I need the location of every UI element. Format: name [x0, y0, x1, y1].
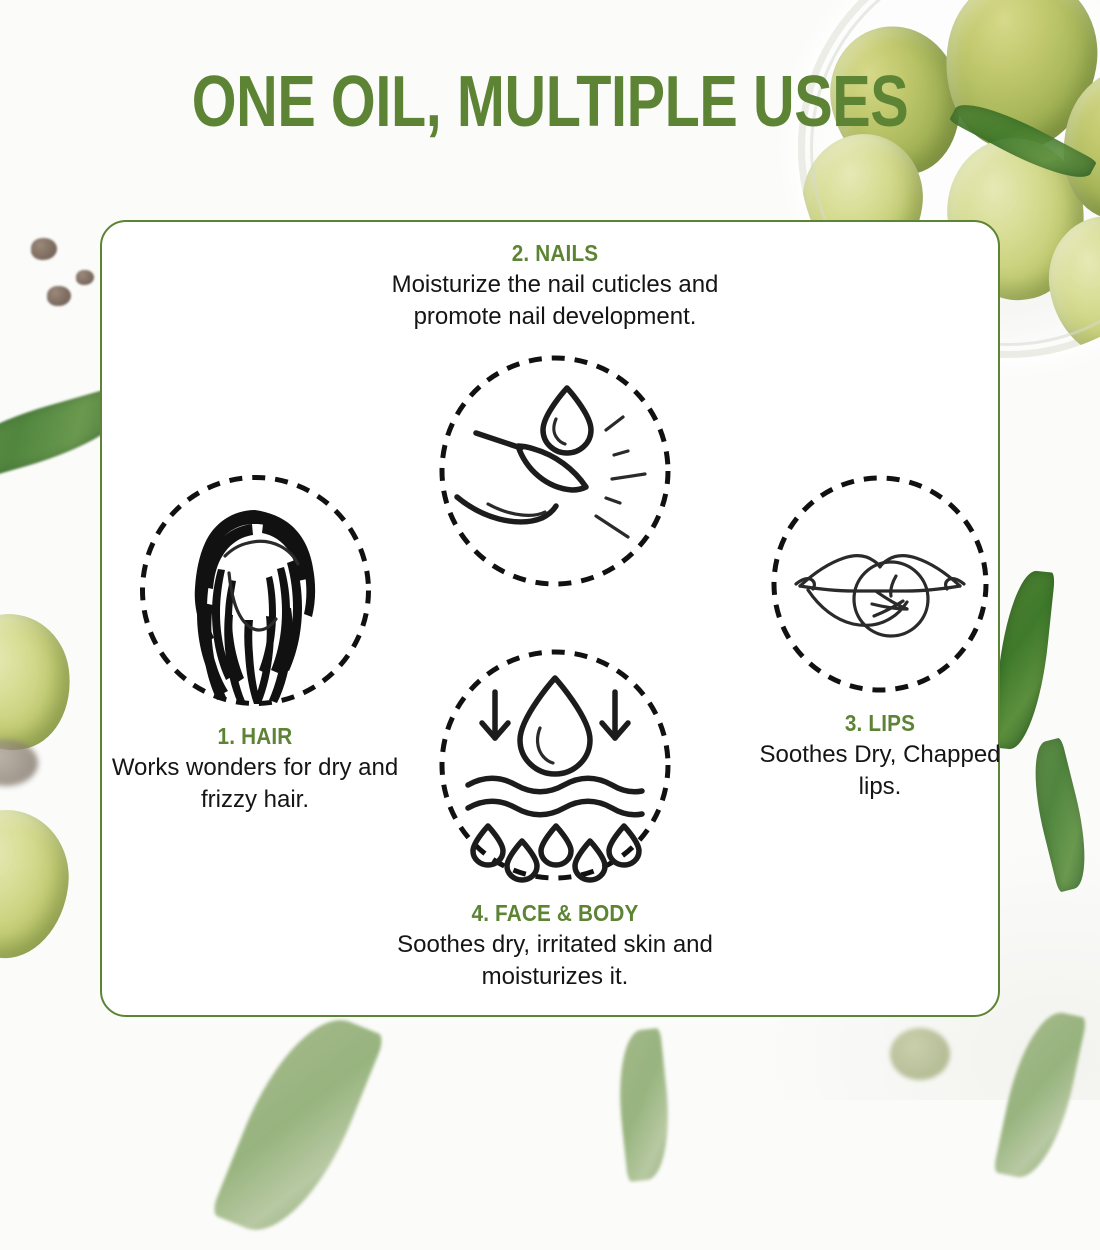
page-title: ONE OIL, MULTIPLE USES	[110, 66, 990, 138]
use-block-face-and-body: 4. FACE & BODY Soothes dry, irritated sk…	[350, 640, 760, 992]
use-block-nails: 2. NAILS Moisturize the nail cuticles an…	[350, 240, 760, 596]
nails-heading: 2. NAILS	[371, 240, 740, 266]
olive-leaf-image	[612, 1028, 675, 1182]
olive-image	[0, 804, 75, 964]
skin-hydration-droplet-icon	[430, 640, 680, 890]
olive-image	[0, 606, 79, 757]
face-body-heading: 4. FACE & BODY	[371, 900, 740, 926]
olive-leaf-image	[1022, 737, 1097, 892]
lips-description: Soothes Dry, Chapped lips.	[735, 739, 1025, 801]
nails-description: Moisturize the nail cuticles and promote…	[350, 269, 760, 331]
nails-icon-circle	[350, 346, 760, 596]
lips-caption: 3. LIPS Soothes Dry, Chapped lips.	[735, 710, 1025, 802]
lips-icon-circle	[735, 468, 1025, 700]
lips-magnifier-icon	[764, 468, 996, 700]
olive-leaf-image	[210, 1000, 385, 1249]
nails-caption: 2. NAILS Moisturize the nail cuticles an…	[350, 240, 760, 332]
olive-image	[890, 1028, 950, 1080]
face-body-icon-circle	[350, 640, 760, 890]
fingernail-oil-drop-icon	[430, 346, 680, 596]
lips-heading: 3. LIPS	[750, 710, 1011, 736]
peppercorn-image	[31, 238, 57, 260]
peppercorn-image	[47, 286, 71, 306]
hair-heading: 1. HAIR	[125, 723, 386, 749]
olive-pit-image	[0, 740, 38, 786]
face-body-description: Soothes dry, irritated skin and moisturi…	[350, 929, 760, 991]
peppercorn-image	[76, 270, 94, 285]
woman-long-hair-icon	[133, 468, 378, 713]
olive-leaf-image	[993, 1006, 1087, 1185]
face-body-caption: 4. FACE & BODY Soothes dry, irritated sk…	[350, 900, 760, 992]
use-block-lips: 3. LIPS Soothes Dry, Chapped lips.	[735, 468, 1025, 802]
